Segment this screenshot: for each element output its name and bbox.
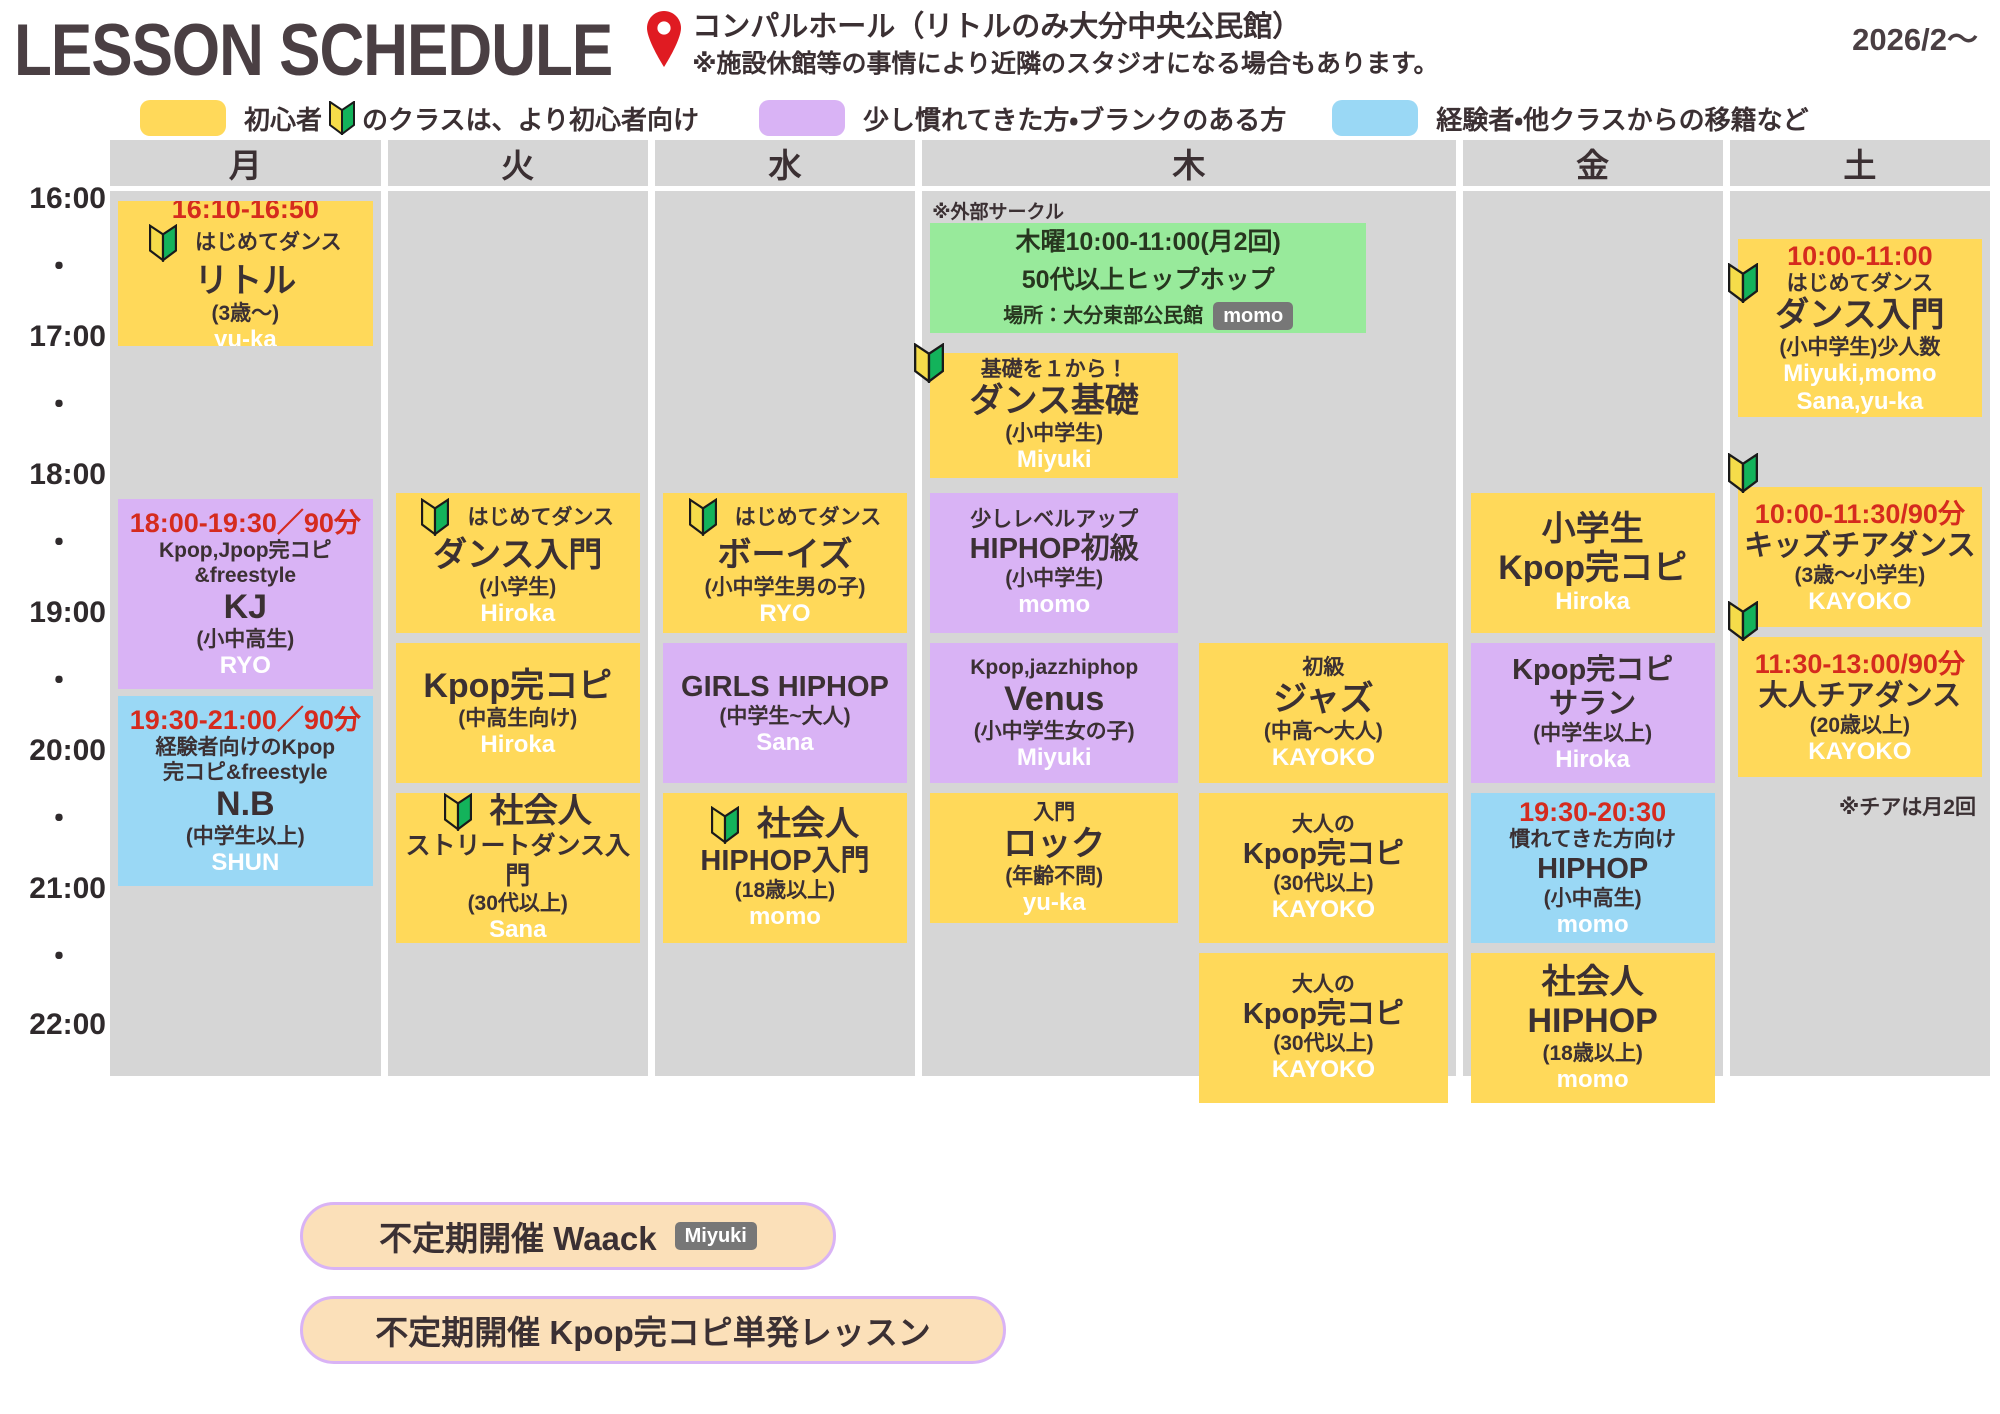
- time-dot-6: ・: [44, 932, 74, 976]
- legend-swatch-purple: [759, 100, 845, 136]
- pill-label: 不定期開催 Waack: [379, 1212, 657, 1260]
- lesson-teacher: Hiroka: [480, 600, 555, 628]
- legend-label-intermediate: 少し慣れてきた方・ブランクのある方: [863, 100, 1286, 137]
- lesson-name: ダンス基礎: [970, 382, 1139, 421]
- lesson-subtitle: 慣れてきた方向け: [1509, 827, 1676, 852]
- lesson-card-tue-kpop[interactable]: Kpop完コピ (中高生向け) Hiroka: [396, 643, 640, 783]
- lesson-subtitle: 少しレベルアップ: [970, 507, 1138, 532]
- lesson-teacher-2: Sana,yu-ka: [1797, 388, 1924, 416]
- day-header-mon: 月: [110, 140, 381, 186]
- lesson-teacher: momo: [1018, 591, 1090, 619]
- lesson-name: リトル: [194, 262, 296, 301]
- legend-item-beginner: 初心者 のクラスは、より初心者向け: [140, 100, 699, 137]
- lesson-age: (30代以上): [1273, 1031, 1373, 1056]
- lesson-teacher: momo: [749, 903, 821, 931]
- lesson-age: (18歳以上): [1542, 1041, 1642, 1066]
- lesson-teacher: Sana: [756, 729, 813, 757]
- lesson-subtitle: はじめてダンス: [735, 505, 882, 530]
- lesson-subtitle-2: 完コピ&freestyle: [163, 760, 328, 785]
- lesson-age: (小中学生): [1005, 566, 1103, 591]
- lesson-subtitle: はじめてダンス: [195, 230, 342, 255]
- day-column-sat: 土 10:00-11:00 はじめてダンス ダンス入門 (小中学生)少人数 Mi…: [1730, 140, 1990, 1076]
- time-label-16: 16:00: [29, 182, 106, 216]
- day-body-sat: 10:00-11:00 はじめてダンス ダンス入門 (小中学生)少人数 Miyu…: [1730, 191, 1990, 1076]
- legend-label-beginner-extra: のクラスは、より初心者向け: [362, 100, 699, 137]
- venue-block: コンパルホール（リトルのみ大分中央公民館） ※施設休館等の事情により近隣のスタジ…: [644, 8, 1438, 82]
- lesson-name: HIPHOP初級: [970, 532, 1139, 566]
- lesson-name: KJ: [224, 588, 267, 627]
- day-column-tue: 火 はじめてダンス ダンス入門 (小学生) Hiroka Kpop完: [388, 140, 648, 1076]
- lesson-teacher: KAYOKO: [1808, 738, 1911, 766]
- time-label-19: 19:00: [29, 596, 106, 630]
- location-pin-icon: [644, 10, 684, 68]
- lesson-name: HIPHOP: [1537, 852, 1648, 886]
- lesson-teacher: Hiroka: [480, 731, 555, 759]
- lesson-subtitle: Kpop,Jpop完コピ: [159, 538, 332, 563]
- lesson-teacher: momo: [1557, 911, 1629, 939]
- lesson-name: N.B: [216, 785, 275, 824]
- day-header-wed: 水: [655, 140, 915, 186]
- sprout-icon: [329, 101, 355, 135]
- lesson-age: (中高～大人): [1264, 719, 1383, 744]
- lesson-card-thu-adult-kpop-1[interactable]: 大人の Kpop完コピ (30代以上) KAYOKO: [1199, 793, 1447, 943]
- lesson-age: (20歳以上): [1810, 713, 1910, 738]
- legend-item-experienced: 経験者・他クラスからの移籍など: [1332, 100, 1808, 137]
- legend-swatch-yellow: [140, 100, 226, 136]
- lesson-age: (18歳以上): [735, 878, 835, 903]
- lesson-teacher: Hiroka: [1555, 746, 1630, 774]
- lesson-name: Venus: [1004, 680, 1104, 719]
- lesson-name: Kpop完コピ: [1512, 653, 1673, 687]
- lesson-subtitle: 大人の: [1292, 972, 1355, 997]
- day-column-mon: 月 16:10-16:50 はじめてダンス リトル (3歳～) yu-ka: [110, 140, 381, 1076]
- lesson-subtitle: 経験者向けのKpop: [155, 735, 335, 760]
- lesson-card-fri-hiphop[interactable]: 19:30-20:30 慣れてきた方向け HIPHOP (小中高生) momo: [1471, 793, 1715, 943]
- lesson-name: Kpop完コピ: [1243, 997, 1404, 1031]
- lesson-time: 19:30-20:30: [1519, 797, 1666, 827]
- day-subcolumn-thu-left: ※外部サークル 木曜10:00-11:00(月2回) 50代以上ヒップホップ 場…: [922, 191, 1186, 1076]
- lesson-teacher: Miyuki: [1017, 744, 1092, 772]
- lesson-teacher: Sana: [489, 916, 546, 943]
- lesson-subtitle: Kpop,jazzhiphop: [970, 655, 1138, 680]
- legend-item-intermediate: 少し慣れてきた方・ブランクのある方: [759, 100, 1286, 137]
- lesson-card-thu-rock[interactable]: 入門 ロック (年齢不問) yu-ka: [930, 793, 1178, 923]
- teacher-badge: Miyuki: [675, 1222, 757, 1250]
- lesson-card-wed-girls[interactable]: GIRLS HIPHOP (中学生~大人) Sana: [663, 643, 907, 783]
- lesson-subtitle: 大人の: [1292, 812, 1355, 837]
- lesson-age: (3歳～): [211, 301, 279, 326]
- lesson-name-2: HIPHOP入門: [700, 844, 869, 878]
- lesson-card-fri-shogakusei[interactable]: 小学生 Kpop完コピ Hiroka: [1471, 493, 1715, 633]
- lesson-name: 大人チアダンス: [1759, 679, 1961, 713]
- lesson-name-2: Kpop完コピ: [1498, 549, 1687, 588]
- lesson-age: (中学生以上): [1533, 721, 1652, 746]
- lesson-subtitle-2: &freestyle: [195, 563, 297, 588]
- time-dot-1: ・: [44, 242, 74, 286]
- lesson-age: (30代以上): [1273, 871, 1373, 896]
- legend: 初心者 のクラスは、より初心者向け 少し慣れてきた方・ブランクのある方 経験者・…: [0, 96, 2000, 140]
- lesson-teacher: yu-ka: [214, 326, 277, 347]
- page-header: LESSON SCHEDULE コンパルホール（リトルのみ大分中央公民館） ※施…: [0, 0, 2000, 96]
- lesson-name-2: HIPHOP: [1527, 1002, 1657, 1041]
- lesson-time: 19:30-21:00／90分: [130, 705, 361, 735]
- sprout-icon: [689, 498, 717, 536]
- lesson-name: ダンス入門: [1775, 296, 1944, 335]
- cheer-frequency-note: ※チアは月2回: [1839, 791, 1976, 821]
- time-dot-2: ・: [44, 380, 74, 424]
- lesson-card-sat-nyumon[interactable]: 10:00-11:00 はじめてダンス ダンス入門 (小中学生)少人数 Miyu…: [1738, 239, 1982, 417]
- sprout-icon: [914, 343, 944, 383]
- lesson-age: (小学生): [479, 575, 556, 600]
- day-header-thu: 木: [922, 140, 1455, 186]
- lesson-name: Kpop完コピ: [1243, 837, 1404, 871]
- time-label-17: 17:00: [29, 320, 106, 354]
- lesson-name: 社会人: [1542, 963, 1644, 1002]
- lesson-card-wed-shakaijin[interactable]: 社会人 HIPHOP入門 (18歳以上) momo: [663, 793, 907, 943]
- lesson-card-mon-kj[interactable]: 18:00-19:30／90分 Kpop,Jpop完コピ &freestyle …: [118, 499, 373, 689]
- lesson-name: 社会人: [757, 805, 859, 844]
- lesson-teacher: RYO: [220, 652, 271, 680]
- lesson-teacher: RYO: [759, 600, 810, 628]
- lesson-name: Kpop完コピ: [423, 667, 612, 706]
- lesson-name-2: サラン: [1549, 687, 1636, 721]
- lesson-card-thu-hiphop[interactable]: 少しレベルアップ HIPHOP初級 (小中学生) momo: [930, 493, 1178, 633]
- time-dot-5: ・: [44, 794, 74, 838]
- lesson-card-tue-shakaijin[interactable]: 社会人 ストリートダンス入門 (30代以上) Sana: [396, 793, 640, 943]
- time-axis: 16:00 ・ 17:00 ・ 18:00 ・ 19:00 ・ 20:00 ・ …: [14, 140, 110, 1076]
- lesson-teacher: Miyuki,momo: [1783, 360, 1936, 388]
- lesson-teacher: KAYOKO: [1272, 896, 1375, 924]
- lesson-name: ジャズ: [1273, 680, 1373, 719]
- lesson-age: (中学生~大人): [719, 704, 850, 729]
- lesson-name: ダンス入門: [433, 536, 602, 575]
- venue-name: コンパルホール（リトルのみ大分中央公民館）: [692, 8, 1438, 46]
- schedule-period: 2026/2～: [1852, 4, 1982, 59]
- day-body-thu: ※外部サークル 木曜10:00-11:00(月2回) 50代以上ヒップホップ 場…: [922, 191, 1455, 1076]
- irregular-lesson-pill-kpop[interactable]: 不定期開催 Kpop完コピ単発レッスン: [300, 1296, 1006, 1364]
- lesson-card-tue-nyumon[interactable]: はじめてダンス ダンス入門 (小学生) Hiroka: [396, 493, 640, 633]
- lesson-subtitle: はじめてダンス: [1787, 271, 1934, 296]
- lesson-age: (小中高生): [196, 627, 294, 652]
- sprout-icon: [421, 498, 449, 536]
- legend-label-experienced: 経験者・他クラスからの移籍など: [1436, 100, 1808, 137]
- lesson-age: (小中学生女の子): [974, 719, 1135, 744]
- lesson-card-thu-jazz[interactable]: 初級 ジャズ (中高～大人) KAYOKO: [1199, 643, 1447, 783]
- lesson-card-fri-shakaijin[interactable]: 社会人 HIPHOP (18歳以上) momo: [1471, 953, 1715, 1103]
- lesson-name: ボーイズ: [717, 536, 852, 575]
- lesson-card-fri-saran[interactable]: Kpop完コピ サラン (中学生以上) Hiroka: [1471, 643, 1715, 783]
- day-header-sat: 土: [1730, 140, 1990, 186]
- lesson-subtitle: 基礎を１から！: [981, 357, 1128, 382]
- time-label-18: 18:00: [29, 458, 106, 492]
- lesson-time: 18:00-19:30／90分: [130, 508, 361, 538]
- lesson-age: (小中学生男の子): [704, 575, 865, 600]
- pill-label: 不定期開催 Kpop完コピ単発レッスン: [375, 1306, 930, 1354]
- lesson-time: 16:10-16:50: [172, 201, 319, 224]
- lesson-name: キッズチアダンス: [1744, 529, 1975, 563]
- lesson-teacher: KAYOKO: [1272, 744, 1375, 772]
- lesson-time: 11:30-13:00/90分: [1755, 649, 1965, 679]
- lesson-name: ロック: [1003, 825, 1105, 864]
- time-dot-3: ・: [44, 518, 74, 562]
- legend-swatch-blue: [1332, 100, 1418, 136]
- sprout-icon: [149, 224, 177, 262]
- lesson-time: 10:00-11:00: [1787, 241, 1933, 271]
- lesson-card-sat-adult-cheer[interactable]: 11:30-13:00/90分 大人チアダンス (20歳以上) KAYOKO: [1738, 637, 1982, 777]
- day-column-wed: 水 はじめてダンス ボーイズ (小中学生男の子) RYO GIRLS: [655, 140, 915, 1076]
- lesson-name: 小学生: [1542, 510, 1644, 549]
- lesson-name: GIRLS HIPHOP: [681, 670, 889, 704]
- lesson-card-mon-little[interactable]: 16:10-16:50 はじめてダンス リトル (3歳～) yu-ka: [118, 201, 373, 346]
- sprout-icon: [711, 806, 739, 844]
- lesson-age: (3歳～小学生): [1795, 563, 1926, 588]
- lesson-age: (小中高生): [1544, 886, 1642, 911]
- time-label-20: 20:00: [29, 734, 106, 768]
- external-circle-note: ※外部サークル: [932, 197, 1064, 224]
- sprout-icon: [1728, 263, 1758, 303]
- lesson-card-wed-boys[interactable]: はじめてダンス ボーイズ (小中学生男の子) RYO: [663, 493, 907, 633]
- lesson-teacher: Hiroka: [1555, 588, 1630, 616]
- time-label-22: 22:00: [29, 1008, 106, 1042]
- day-column-thu: 木 ※外部サークル 木曜10:00-11:00(月2回) 50代以上ヒップホップ…: [922, 140, 1455, 1076]
- day-body-wed: はじめてダンス ボーイズ (小中学生男の子) RYO GIRLS HIPHOP …: [655, 191, 915, 1076]
- lesson-age: (小中学生): [1005, 421, 1103, 446]
- day-body-tue: はじめてダンス ダンス入門 (小学生) Hiroka Kpop完コピ (中高生向…: [388, 191, 648, 1076]
- sprout-icon: [444, 793, 472, 831]
- venue-note: ※施設休館等の事情により近隣のスタジオになる場合もあります。: [692, 46, 1438, 82]
- lesson-card-sat-kids-cheer[interactable]: 10:00-11:30/90分 キッズチアダンス (3歳～小学生) KAYOKO: [1738, 487, 1982, 627]
- lesson-card-thu-adult-kpop-2[interactable]: 大人の Kpop完コピ (30代以上) KAYOKO: [1199, 953, 1447, 1103]
- irregular-lesson-pill-waack[interactable]: 不定期開催 Waack Miyuki: [300, 1202, 836, 1270]
- lesson-teacher: KAYOKO: [1272, 1056, 1375, 1084]
- lesson-teacher: SHUN: [211, 849, 279, 877]
- lesson-name-2: ストリートダンス入門: [396, 831, 640, 891]
- lesson-schedule-page: LESSON SCHEDULE コンパルホール（リトルのみ大分中央公民館） ※施…: [0, 0, 2000, 1414]
- external-place: 場所：大分東部公民館: [1003, 303, 1203, 329]
- sprout-icon: [1728, 453, 1758, 493]
- sprout-icon: [1728, 601, 1758, 641]
- lesson-subtitle: はじめてダンス: [467, 505, 614, 530]
- day-column-fri: 金 小学生 Kpop完コピ Hiroka Kpop完コピ サラン (中学生以上)…: [1463, 140, 1723, 1076]
- lesson-age: (中高生向け): [458, 706, 577, 731]
- time-label-21: 21:00: [29, 872, 106, 906]
- lesson-age: (30代以上): [468, 891, 568, 916]
- lesson-teacher: yu-ka: [1023, 889, 1086, 917]
- lesson-teacher: KAYOKO: [1808, 588, 1911, 616]
- day-subcolumn-thu-right: 初級 ジャズ (中高～大人) KAYOKO 大人の Kpop完コピ (30代以上…: [1191, 191, 1455, 1076]
- day-body-fri: 小学生 Kpop完コピ Hiroka Kpop完コピ サラン (中学生以上) H…: [1463, 191, 1723, 1076]
- day-header-tue: 火: [388, 140, 648, 186]
- day-body-mon: 16:10-16:50 はじめてダンス リトル (3歳～) yu-ka 18:0…: [110, 191, 381, 1076]
- day-header-fri: 金: [1463, 140, 1723, 186]
- lesson-card-mon-nb[interactable]: 19:30-21:00／90分 経験者向けのKpop 完コピ&freestyle…: [118, 696, 373, 886]
- lesson-age: (中学生以上): [186, 824, 305, 849]
- lesson-subtitle: 入門: [1033, 800, 1075, 825]
- lesson-card-thu-venus[interactable]: Kpop,jazzhiphop Venus (小中学生女の子) Miyuki: [930, 643, 1178, 783]
- time-dot-4: ・: [44, 656, 74, 700]
- lesson-age: (年齢不問): [1005, 864, 1103, 889]
- lesson-time: 10:00-11:30/90分: [1755, 499, 1965, 529]
- page-title: LESSON SCHEDULE: [14, 2, 612, 101]
- lesson-name: 社会人: [490, 793, 592, 831]
- lesson-age: (小中学生)少人数: [1779, 335, 1940, 360]
- lesson-card-thu-kiso[interactable]: 基礎を１から！ ダンス基礎 (小中学生) Miyuki: [930, 353, 1178, 478]
- lesson-subtitle: 初級: [1302, 655, 1344, 680]
- lesson-teacher: Miyuki: [1017, 446, 1092, 474]
- lesson-teacher: momo: [1557, 1066, 1629, 1094]
- legend-label-beginner: 初心者: [244, 100, 322, 137]
- schedule-grid: 16:00 ・ 17:00 ・ 18:00 ・ 19:00 ・ 20:00 ・ …: [0, 140, 2000, 1076]
